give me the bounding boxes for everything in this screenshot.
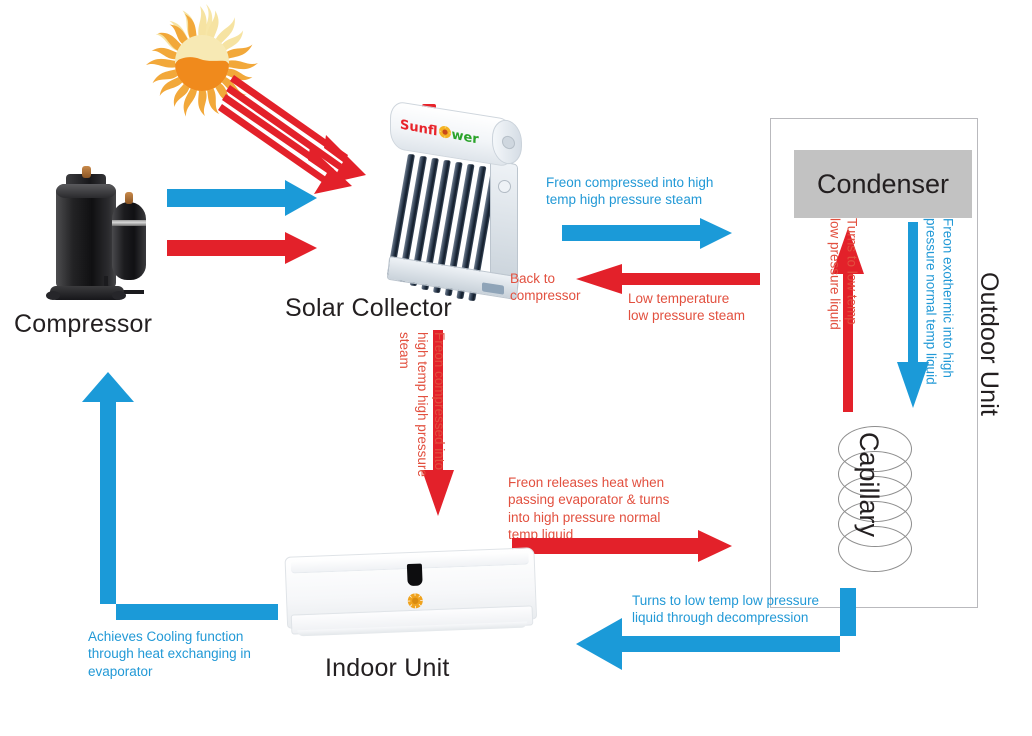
indoor-unit-label: Indoor Unit <box>325 654 450 683</box>
compressor-body-top <box>56 184 116 198</box>
evaporator-to-capillary-red-arrow <box>512 530 742 566</box>
outdoor-unit-label: Outdoor Unit <box>974 272 1003 416</box>
indoor-to-compressor-blue-arrow <box>62 368 292 630</box>
accumulator-tank <box>112 202 146 280</box>
diagram-canvas: Compressor <box>0 0 1032 736</box>
capillary-label: Capillary <box>853 432 884 537</box>
collector-side-hole <box>498 180 511 193</box>
indoor-unit-display-panel <box>407 564 423 587</box>
compressor-body <box>56 184 116 288</box>
compressor-foot-right <box>112 291 126 300</box>
solar-collector-label: Solar Collector <box>285 294 452 323</box>
compressor-foot-left <box>46 291 60 300</box>
collector-to-condenser-blue-arrow <box>562 218 742 254</box>
compressor-to-collector-blue-arrow <box>167 180 327 220</box>
note-turns-low-temp-low-pressure-liquid: Turns to low temp low pressure liquid <box>826 218 861 408</box>
note-freon-exothermic: Freon exothermic into high pressure norm… <box>922 218 957 418</box>
compressor-image <box>42 158 168 310</box>
capillary-coil: Capillary <box>838 426 914 574</box>
capillary-to-indoor-blue-arrow <box>570 588 870 658</box>
indoor-unit-image: SUNFLOWER <box>284 543 537 645</box>
note-freon-compressed-high: Freon compressed into high temp high pre… <box>546 174 756 209</box>
flower-icon <box>437 124 451 141</box>
condenser-label: Condenser <box>817 169 949 200</box>
compressor-discharge-port <box>82 166 91 178</box>
note-achieves-cooling: Achieves Cooling function through heat e… <box>88 628 288 680</box>
note-back-to-compressor: Back to compressor <box>510 270 600 305</box>
note-low-temp-low-pressure-steam: Low temperature low pressure steam <box>628 290 778 325</box>
accumulator-port <box>125 192 133 204</box>
compressor-to-collector-red-arrow <box>167 232 327 268</box>
compressor-label: Compressor <box>14 310 152 339</box>
condenser-box: Condenser <box>794 150 972 218</box>
note-freon-compressed-down: Freon compressed into high temp high pre… <box>396 332 448 512</box>
accumulator-band <box>112 220 146 226</box>
